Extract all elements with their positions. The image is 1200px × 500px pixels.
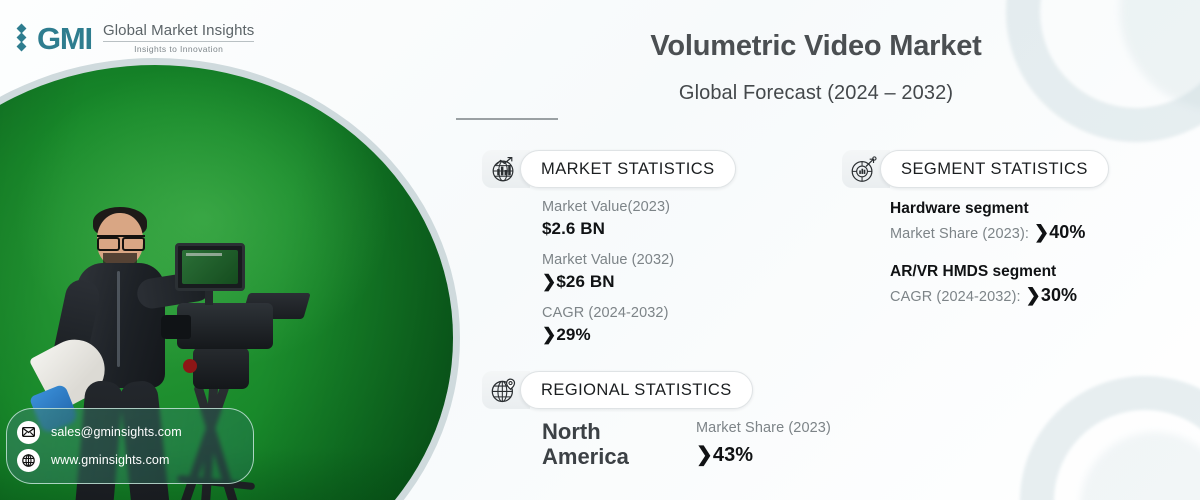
regional-statistics-row: North America Market Share (2023) ❯43% [542, 420, 831, 469]
monitor-arm [205, 289, 213, 305]
market-stat-item: Market Value (2032) ❯$26 BN [542, 251, 674, 292]
camera-monitor-screen [182, 250, 238, 284]
market-stat-label: Market Value (2032) [542, 252, 674, 268]
contact-pill: sales@gminsights.com www.gminsights.com [6, 408, 254, 484]
contact-website-text: www.gminsights.com [51, 453, 170, 467]
brand-logo[interactable]: GMI Global Market Insights Insights to I… [14, 22, 254, 54]
segment-stat-label: Market Share (2023): [890, 226, 1029, 242]
market-statistics-list: Market Value(2023) $2.6 BN Market Value … [542, 198, 674, 357]
market-stat-item: CAGR (2024-2032) ❯29% [542, 304, 674, 345]
page-subtitle: Global Forecast (2024 – 2032) [456, 82, 1176, 105]
envelope-icon [17, 421, 40, 444]
tripod-fluid-head [193, 347, 249, 389]
camera-monitor [175, 243, 245, 291]
segment-statistics-list: Hardware segment Market Share (2023): ❯4… [890, 200, 1086, 326]
market-stat-value: ❯29% [542, 325, 674, 345]
contact-email-text: sales@gminsights.com [51, 425, 182, 439]
globe-icon [17, 449, 40, 472]
region-stat-value: ❯43% [696, 442, 831, 467]
figure-glasses [97, 235, 145, 244]
region-stat: Market Share (2023) ❯43% [696, 420, 831, 467]
camera-body [177, 303, 273, 349]
contact-website-row[interactable]: www.gminsights.com [17, 446, 239, 474]
page-title: Volumetric Video Market [456, 30, 1176, 63]
brand-name: Global Market Insights [103, 22, 254, 39]
segment-stat-item: AR/VR HMDS segment CAGR (2024-2032): ❯30… [890, 263, 1086, 306]
region-name: North America [542, 420, 660, 469]
market-stat-value: $2.6 BN [542, 219, 674, 239]
market-stat-value: ❯$26 BN [542, 272, 674, 292]
infographic-canvas: sales@gminsights.com www.gminsights.com [0, 0, 1200, 500]
gmi-wordmark: GMI [37, 23, 92, 54]
camera-lens [161, 315, 191, 339]
segment-stat-value: ❯30% [1026, 285, 1078, 306]
market-statistics-badge[interactable]: MARKET STATISTICS [520, 150, 736, 188]
segment-stat-item: Hardware segment Market Share (2023): ❯4… [890, 200, 1086, 243]
brand-tagline: Insights to Innovation [103, 44, 254, 54]
market-statistics-header: MARKET STATISTICS [482, 150, 736, 188]
market-stat-label: CAGR (2024-2032) [542, 305, 669, 321]
figure-jacket-zipper [117, 271, 120, 367]
market-stat-item: Market Value(2023) $2.6 BN [542, 198, 674, 239]
segment-statistics-header: SEGMENT STATISTICS [842, 150, 1109, 188]
tripod-lock-knob [183, 359, 197, 373]
regional-statistics-badge[interactable]: REGIONAL STATISTICS [520, 371, 753, 409]
gmi-diamond-mark [14, 23, 30, 53]
segment-stat-label: CAGR (2024-2032): [890, 289, 1021, 305]
title-divider [456, 118, 558, 120]
brand-divider [103, 41, 254, 42]
segment-statistics-badge[interactable]: SEGMENT STATISTICS [880, 150, 1109, 188]
regional-statistics-header: REGIONAL STATISTICS [482, 371, 753, 409]
market-stat-label: Market Value(2023) [542, 199, 670, 215]
content-area: Volumetric Video Market Global Forecast … [452, 0, 1200, 500]
segment-name: AR/VR HMDS segment [890, 263, 1086, 281]
segment-name: Hardware segment [890, 200, 1086, 218]
segment-stat-value: ❯40% [1034, 222, 1086, 243]
region-stat-label: Market Share (2023) [696, 420, 831, 436]
contact-email-row[interactable]: sales@gminsights.com [17, 418, 239, 446]
hero-photo-panel: sales@gminsights.com www.gminsights.com [0, 0, 470, 500]
